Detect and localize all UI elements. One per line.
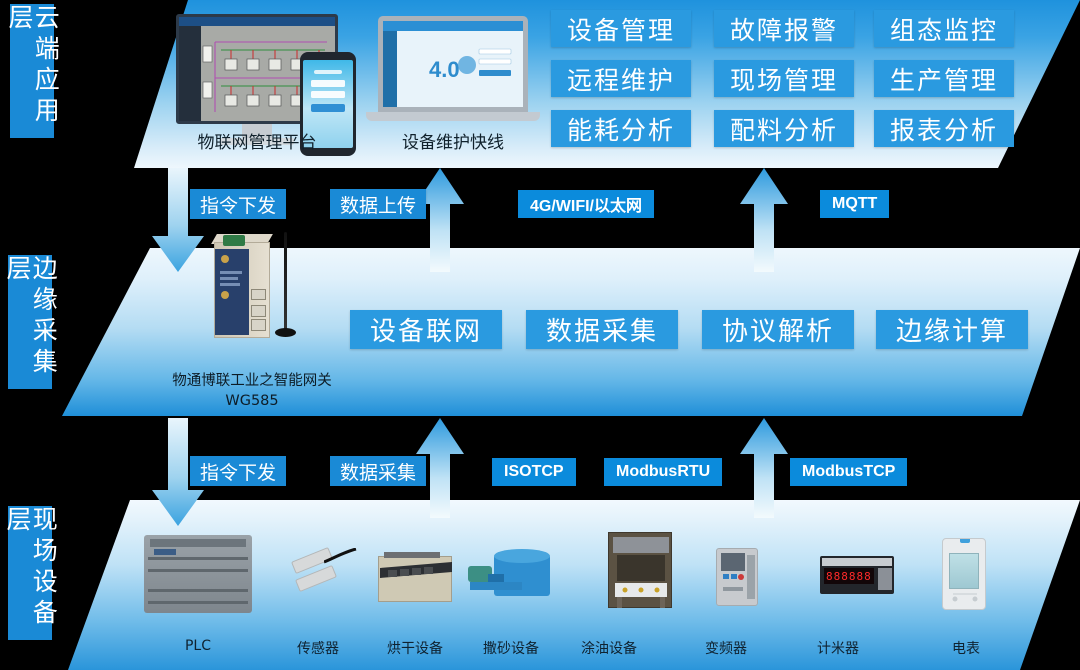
layer-label-cloud: 云端应用层 bbox=[10, 4, 54, 138]
layer-label-field: 现场设备层 bbox=[8, 506, 52, 640]
device-electric-meter bbox=[942, 538, 986, 610]
maintenance-express-laptop: 4.0 bbox=[378, 16, 528, 122]
link-chip-mqtt[interactable]: MQTT bbox=[820, 190, 889, 218]
app-chip-device-management[interactable]: 设备管理 bbox=[551, 10, 691, 47]
link-chip-data-upload[interactable]: 数据上传 bbox=[330, 189, 426, 219]
device-meter-counter: 888888 bbox=[820, 556, 894, 594]
caption-sanding-equipment: 撒砂设备 bbox=[468, 638, 554, 658]
edge-chip-protocol-parsing[interactable]: 协议解析 bbox=[702, 310, 854, 349]
caption-inverter: 变频器 bbox=[686, 638, 766, 658]
caption-electric-meter: 电表 bbox=[926, 638, 1006, 658]
link-chip-4g-wifi-ethernet[interactable]: 4G/WIFI/以太网 bbox=[518, 190, 654, 218]
caption-gateway: 物通博联工业之智能网关 WG585 bbox=[152, 372, 352, 411]
link-chip-isotcp[interactable]: ISOTCP bbox=[492, 458, 576, 486]
device-sanding-equipment bbox=[466, 544, 556, 610]
link-chip-modbusrtu[interactable]: ModbusRTU bbox=[604, 458, 722, 486]
edge-chip-data-acquisition[interactable]: 数据采集 bbox=[526, 310, 678, 349]
app-chip-remote-maintenance[interactable]: 远程维护 bbox=[551, 60, 691, 97]
arrow-up-field-to-edge-modbus bbox=[736, 418, 792, 520]
link-chip-data-acquisition-field[interactable]: 数据采集 bbox=[330, 456, 426, 486]
device-oiling-equipment bbox=[608, 532, 672, 608]
caption-sensor: 传感器 bbox=[278, 638, 358, 658]
caption-meter-counter: 计米器 bbox=[798, 638, 878, 658]
app-chip-scada-monitoring[interactable]: 组态监控 bbox=[874, 10, 1014, 47]
app-chip-report-analysis[interactable]: 报表分析 bbox=[874, 110, 1014, 147]
device-inverter bbox=[716, 548, 758, 606]
device-plc bbox=[144, 535, 252, 613]
layer-label-edge: 边缘采集层 bbox=[8, 255, 52, 389]
app-chip-batching-analysis[interactable]: 配料分析 bbox=[714, 110, 854, 147]
app-chip-site-management[interactable]: 现场管理 bbox=[714, 60, 854, 97]
iot-architecture-diagram: 云端应用层 边缘采集层 现场设备层 bbox=[0, 0, 1080, 670]
caption-plc: PLC bbox=[158, 638, 238, 654]
arrow-up-edge-to-cloud-data bbox=[412, 168, 468, 274]
caption-oiling-equipment: 涂油设备 bbox=[566, 638, 652, 658]
link-chip-command-dispatch-field[interactable]: 指令下发 bbox=[190, 456, 286, 486]
caption-iot-platform: 物联网管理平台 bbox=[176, 128, 338, 153]
link-chip-command-dispatch-cloud[interactable]: 指令下发 bbox=[190, 189, 286, 219]
caption-gateway-line2: WG585 bbox=[152, 392, 352, 412]
app-chip-fault-alarm[interactable]: 故障报警 bbox=[714, 10, 854, 47]
device-drying-equipment bbox=[374, 546, 460, 608]
edge-chip-device-networking[interactable]: 设备联网 bbox=[350, 310, 502, 349]
link-chip-modbustcp[interactable]: ModbusTCP bbox=[790, 458, 907, 486]
app-chip-energy-analysis[interactable]: 能耗分析 bbox=[551, 110, 691, 147]
svg-text:4.0: 4.0 bbox=[429, 57, 460, 82]
device-sensor bbox=[290, 548, 360, 608]
app-chip-production-management[interactable]: 生产管理 bbox=[874, 60, 1014, 97]
edge-chip-edge-computing[interactable]: 边缘计算 bbox=[876, 310, 1028, 349]
arrow-up-edge-to-cloud-mqtt bbox=[736, 168, 792, 274]
caption-maintenance-express: 设备维护快线 bbox=[378, 128, 528, 153]
caption-gateway-line1: 物通博联工业之智能网关 bbox=[152, 372, 352, 392]
caption-drying-equipment: 烘干设备 bbox=[372, 638, 458, 658]
edge-gateway-device bbox=[196, 228, 308, 346]
